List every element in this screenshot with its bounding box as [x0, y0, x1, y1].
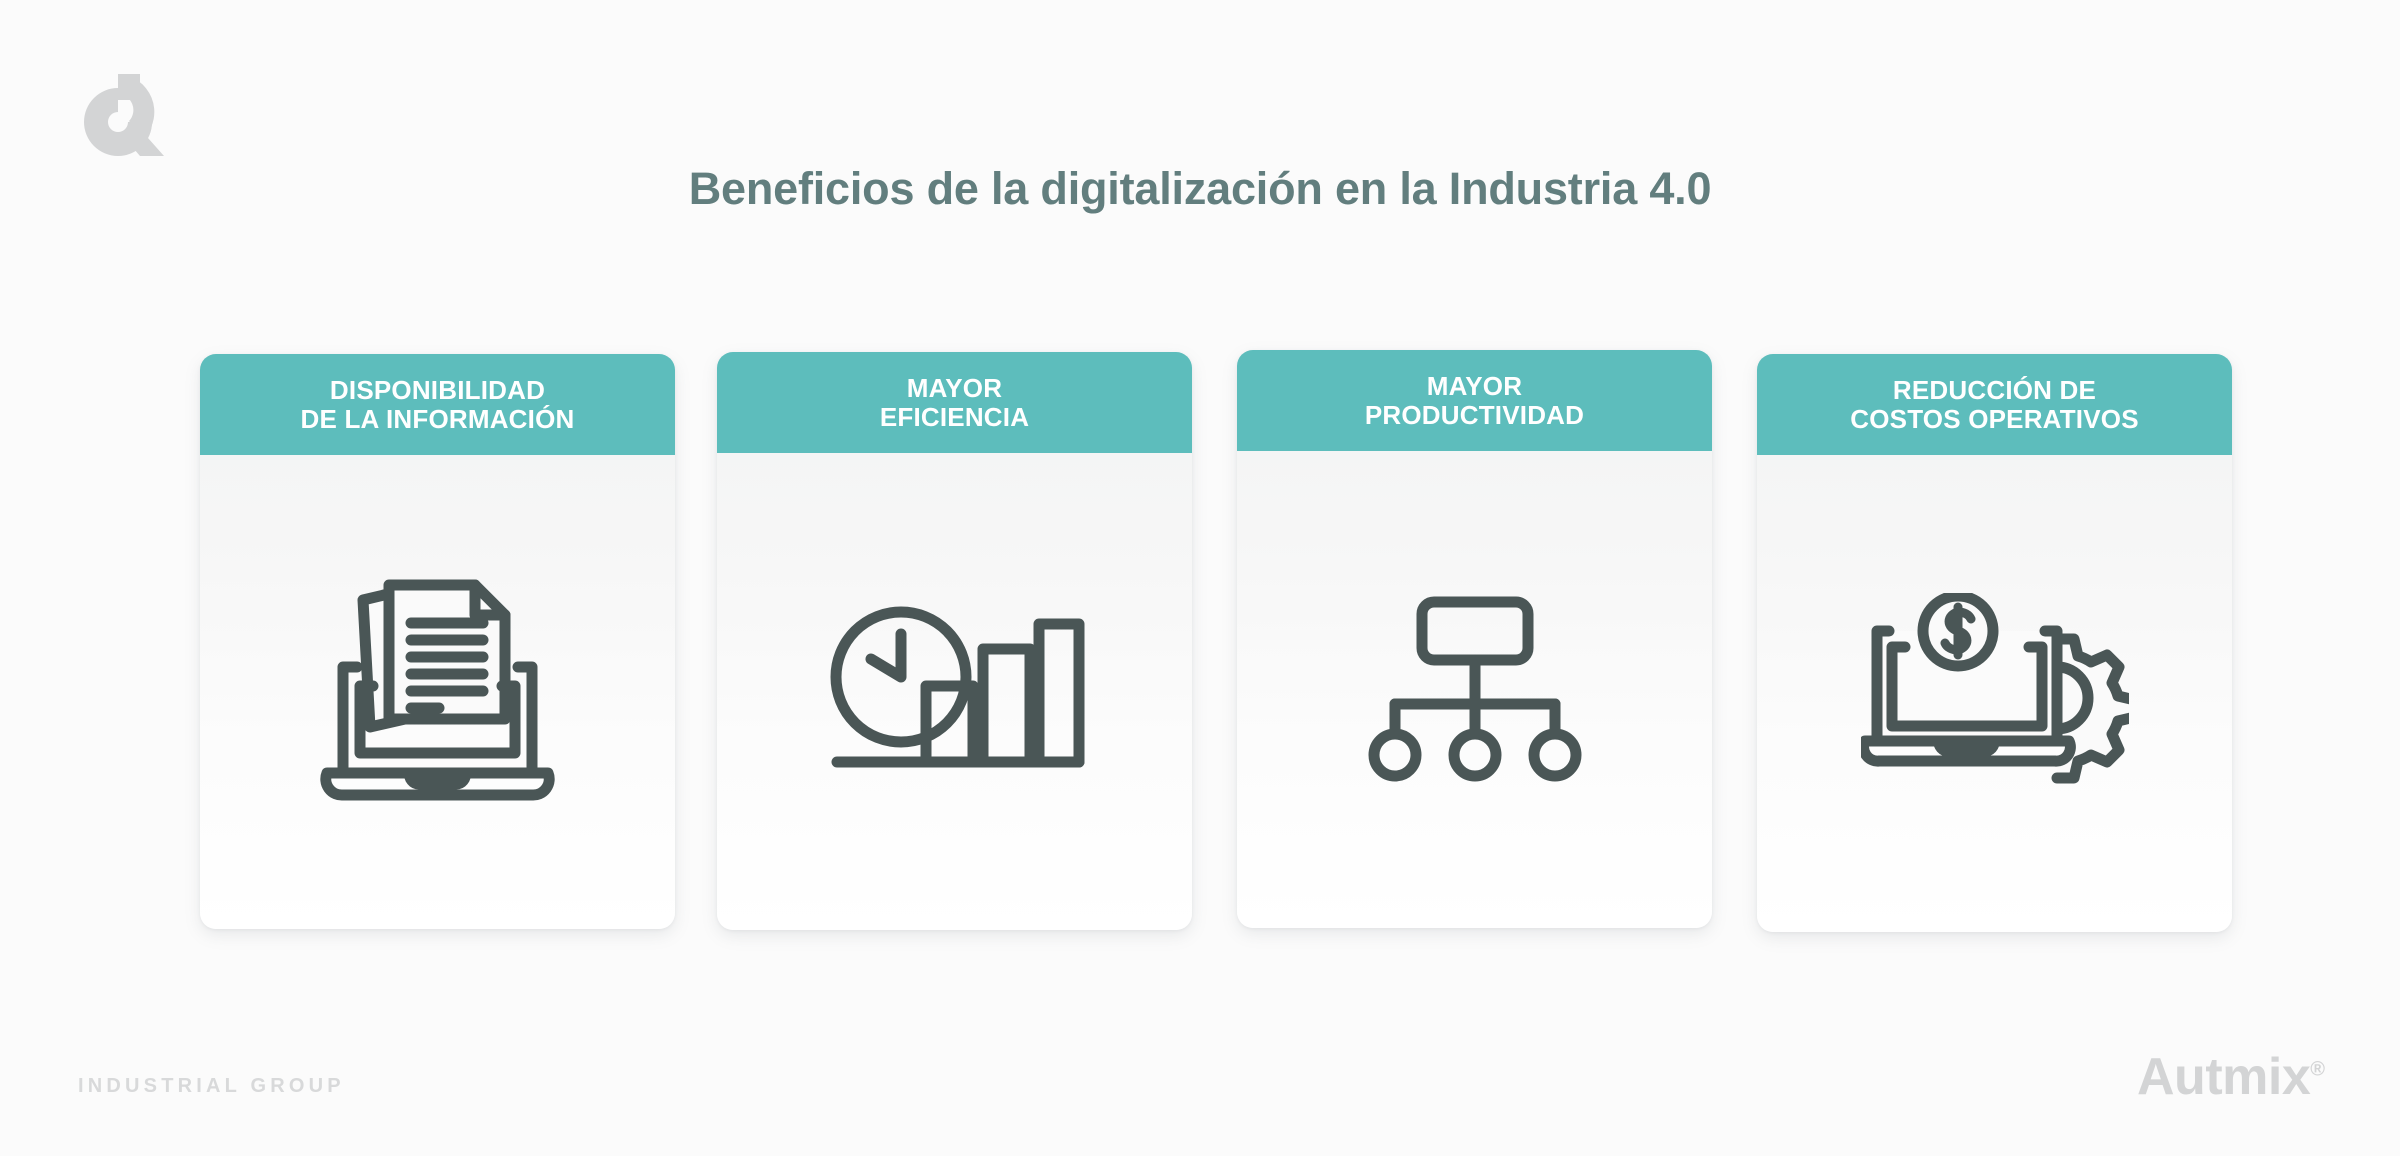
benefit-card-reduccion-costos[interactable]: REDUCCIÓN DE COSTOS OPERATIVOS: [1757, 354, 2232, 932]
card-header-line2: COSTOS OPERATIVOS: [1767, 405, 2222, 434]
card-header-reduccion-costos: REDUCCIÓN DE COSTOS OPERATIVOS: [1757, 354, 2232, 455]
registered-trademark-icon: ®: [2310, 1059, 2325, 1081]
benefit-card-disponibilidad[interactable]: DISPONIBILIDAD DE LA INFORMACIÓN: [200, 354, 675, 929]
card-body-disponibilidad: [200, 455, 675, 929]
card-header-line2: EFICIENCIA: [727, 403, 1182, 432]
card-body-eficiencia: [717, 453, 1192, 930]
benefit-card-productividad[interactable]: MAYOR PRODUCTIVIDAD: [1237, 350, 1712, 928]
card-body-productividad: [1237, 451, 1712, 928]
card-header-eficiencia: MAYOR EFICIENCIA: [717, 352, 1192, 453]
laptop-dollar-gear-icon: [1757, 593, 2232, 793]
org-hierarchy-icon: [1237, 594, 1712, 784]
footer-brand-logo: Autmix®: [2137, 1047, 2325, 1107]
benefit-card-eficiencia[interactable]: MAYOR EFICIENCIA: [717, 352, 1192, 930]
footer-brand-name: Autmix: [2137, 1048, 2310, 1106]
card-header-line1: DISPONIBILIDAD: [210, 376, 665, 405]
clock-bar-chart-icon: [717, 601, 1192, 781]
card-header-line1: REDUCCIÓN DE: [1767, 376, 2222, 405]
card-header-disponibilidad: DISPONIBILIDAD DE LA INFORMACIÓN: [200, 354, 675, 455]
card-header-line1: MAYOR: [1247, 372, 1702, 401]
benefit-cards-row: DISPONIBILIDAD DE LA INFORMACIÓN: [200, 340, 2325, 965]
brand-logo: [78, 60, 174, 170]
footer-tagline: INDUSTRIAL GROUP: [78, 1075, 345, 1098]
card-header-line2: DE LA INFORMACIÓN: [210, 405, 665, 434]
card-header-line1: MAYOR: [727, 374, 1182, 403]
card-body-reduccion-costos: [1757, 455, 2232, 932]
card-header-line2: PRODUCTIVIDAD: [1247, 401, 1702, 430]
laptop-documents-icon: [200, 567, 675, 817]
page-title: Beneficios de la digitalización en la In…: [0, 163, 2400, 215]
card-header-productividad: MAYOR PRODUCTIVIDAD: [1237, 350, 1712, 451]
